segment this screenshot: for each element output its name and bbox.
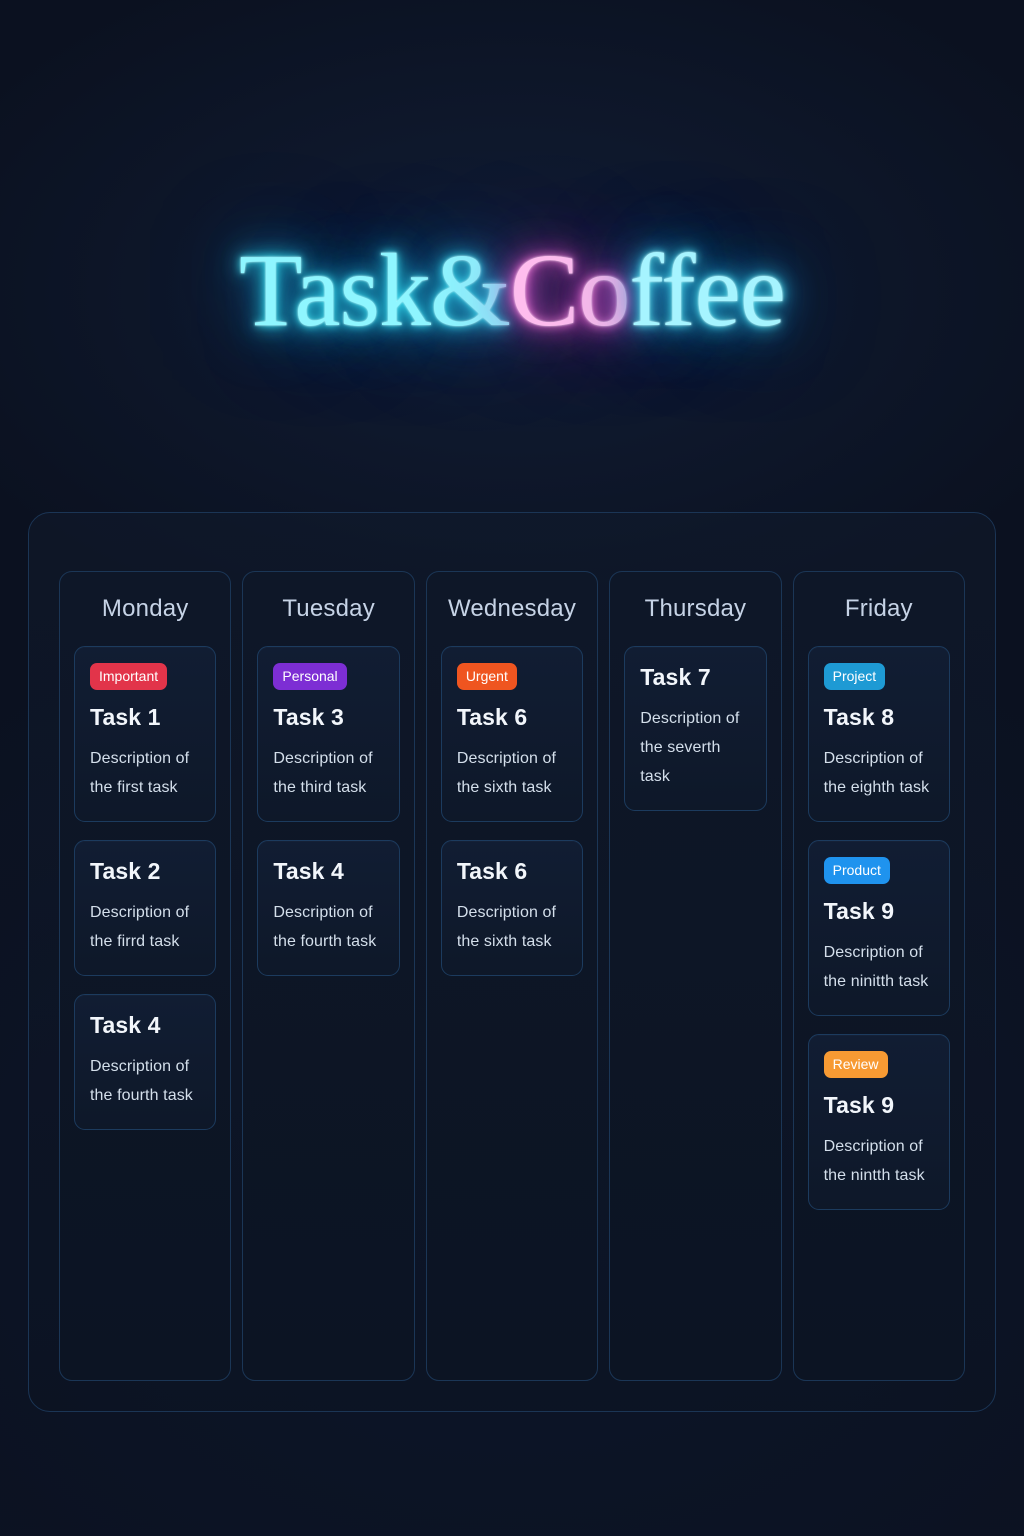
task-title: Task 3 <box>273 703 383 731</box>
day-column-monday[interactable]: MondayImportantTask 1Description of the … <box>59 571 231 1381</box>
day-column-thursday[interactable]: ThursdayTask 7Description of the severth… <box>609 571 781 1381</box>
day-column-title: Friday <box>808 594 950 624</box>
task-description: Description of the severth task <box>640 704 750 791</box>
day-column-wednesday[interactable]: WednesdayUrgentTask 6Description of the … <box>426 571 598 1381</box>
task-card[interactable]: ImportantTask 1Description of the first … <box>74 646 216 822</box>
task-card[interactable]: PersonalTask 3Description of the third t… <box>257 646 399 822</box>
task-title: Task 6 <box>457 857 567 885</box>
task-description: Description of the sixth task <box>457 744 567 802</box>
task-description: Description of the first task <box>90 744 200 802</box>
task-title: Task 1 <box>90 703 200 731</box>
app-title-container: Task&Coffee <box>0 226 1024 356</box>
day-column-tuesday[interactable]: TuesdayPersonalTask 3Description of the … <box>242 571 414 1381</box>
task-title: Task 7 <box>640 663 750 691</box>
day-column-title: Monday <box>74 594 216 624</box>
day-column-title: Wednesday <box>441 594 583 624</box>
task-card[interactable]: ProductTask 9Description of the ninitth … <box>808 840 950 1016</box>
task-title: Task 8 <box>824 703 934 731</box>
title-segment-1: Co <box>510 233 629 348</box>
weekly-task-board: MondayImportantTask 1Description of the … <box>28 512 996 1412</box>
task-card[interactable]: Task 2Description of the firrd task <box>74 840 216 976</box>
task-title: Task 2 <box>90 857 200 885</box>
task-title: Task 9 <box>824 1091 934 1119</box>
task-card[interactable]: ReviewTask 9Description of the nintth ta… <box>808 1034 950 1210</box>
day-columns-container: MondayImportantTask 1Description of the … <box>29 543 995 1411</box>
day-column-friday[interactable]: FridayProjectTask 8Description of the ei… <box>793 571 965 1381</box>
task-badge: Important <box>90 663 167 690</box>
title-segment-2: ffee <box>629 233 785 348</box>
title-segment-0: Task& <box>239 233 510 348</box>
task-badge: Review <box>824 1051 888 1078</box>
task-description: Description of the firrd task <box>90 898 200 956</box>
page-title: Task&Coffee <box>239 226 785 356</box>
day-column-title: Tuesday <box>257 594 399 624</box>
task-badge: Personal <box>273 663 346 690</box>
task-description: Description of the ninitth task <box>824 938 934 996</box>
task-description: Description of the third task <box>273 744 383 802</box>
task-badge: Project <box>824 663 886 690</box>
task-card[interactable]: Task 4Description of the fourth task <box>74 994 216 1130</box>
task-badge: Product <box>824 857 890 884</box>
task-title: Task 9 <box>824 897 934 925</box>
task-card[interactable]: UrgentTask 6Description of the sixth tas… <box>441 646 583 822</box>
task-title: Task 4 <box>90 1011 200 1039</box>
task-description: Description of the fourth task <box>273 898 383 956</box>
task-card[interactable]: Task 6Description of the sixth task <box>441 840 583 976</box>
task-description: Description of the fourth task <box>90 1052 200 1110</box>
task-title: Task 4 <box>273 857 383 885</box>
day-column-title: Thursday <box>624 594 766 624</box>
task-card[interactable]: ProjectTask 8Description of the eighth t… <box>808 646 950 822</box>
task-card[interactable]: Task 4Description of the fourth task <box>257 840 399 976</box>
task-badge: Urgent <box>457 663 517 690</box>
task-card[interactable]: Task 7Description of the severth task <box>624 646 766 811</box>
task-description: Description of the sixth task <box>457 898 567 956</box>
task-description: Description of the eighth task <box>824 744 934 802</box>
task-description: Description of the nintth task <box>824 1132 934 1190</box>
task-title: Task 6 <box>457 703 567 731</box>
